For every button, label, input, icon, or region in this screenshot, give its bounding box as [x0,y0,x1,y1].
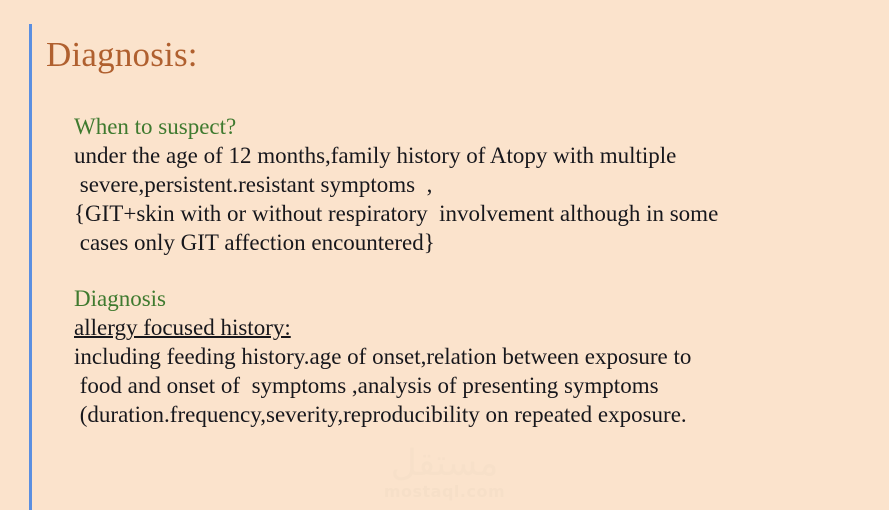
section-diagnosis: Diagnosis allergy focused history: inclu… [74,284,874,429]
watermark-arabic-logo: مستقل [0,446,889,482]
section-heading: When to suspect? [74,112,874,141]
section-subheading: allergy focused history: [74,313,291,342]
body-line: severe,persistent.resistant symptoms , [74,170,874,199]
body-line: food and onset of symptoms ,analysis of … [74,371,874,400]
slide-body: When to suspect? under the age of 12 mon… [74,112,874,429]
body-line: (duration.frequency,severity,reproducibi… [74,400,874,429]
body-line: under the age of 12 months,family histor… [74,141,874,170]
page-title: Diagnosis: [46,34,198,76]
body-line: including feeding history.age of onset,r… [74,342,874,371]
section-heading: Diagnosis [74,284,874,313]
body-line: cases only GIT affection encountered} [74,228,874,257]
slide-canvas: Diagnosis: When to suspect? under the ag… [0,0,889,510]
body-line: {GIT+skin with or without respiratory in… [74,199,874,228]
section-when-to-suspect: When to suspect? under the age of 12 mon… [74,112,874,257]
watermark: مستقل mostaql.com [0,446,889,501]
watermark-domain-text: mostaql.com [0,483,889,501]
left-accent-rule [29,24,32,510]
section-subheading-wrap: allergy focused history: [74,313,874,342]
